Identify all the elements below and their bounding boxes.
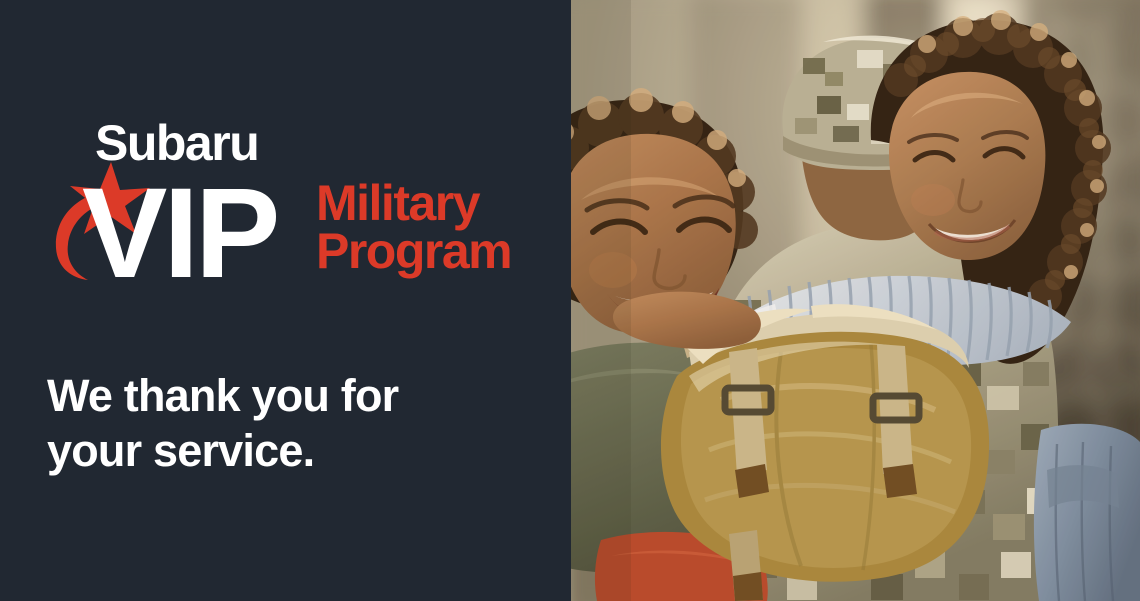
tagline-line-1: We thank you for	[47, 368, 507, 423]
left-content-panel: Subaru VIP Military Program We thank you…	[0, 0, 571, 601]
vip-wordmark: VIP	[82, 170, 276, 298]
tagline: We thank you for your service.	[47, 368, 507, 479]
program-label: Program	[316, 228, 511, 276]
subaru-vip-military-banner: Subaru VIP Military Program We thank you…	[0, 0, 1140, 601]
military-label: Military	[316, 180, 511, 228]
tagline-line-2: your service.	[47, 423, 507, 478]
family-reunion-photo	[571, 0, 1140, 601]
military-program-wordmark: Military Program	[316, 180, 511, 275]
program-logo-lockup: Subaru VIP Military Program	[60, 118, 540, 298]
brand-wordmark: Subaru	[95, 118, 258, 168]
